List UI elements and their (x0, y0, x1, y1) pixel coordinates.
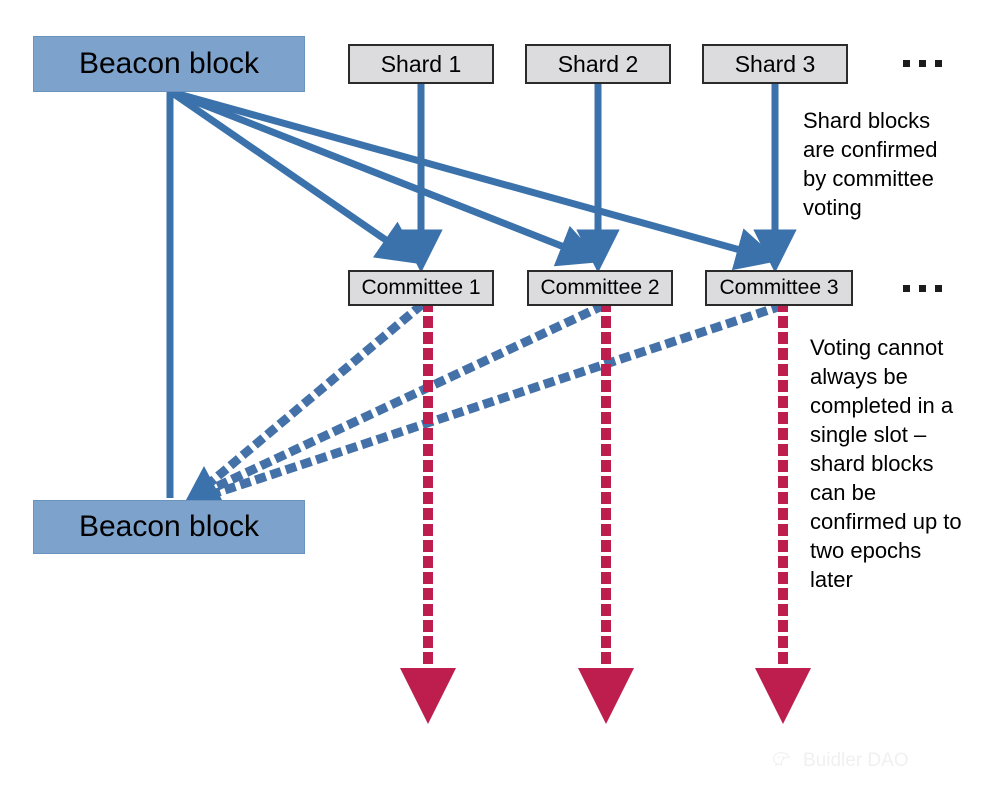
shard-3-node[interactable]: Shard 3 (702, 44, 848, 84)
shard-1-node[interactable]: Shard 1 (348, 44, 494, 84)
committee-1-label: Committee 1 (361, 277, 480, 299)
beacon-bottom-arrowhead (186, 466, 222, 500)
committee-3-node[interactable]: Committee 3 (705, 270, 853, 306)
committee-2-label: Committee 2 (540, 277, 659, 299)
voting-epochs-note: Voting cannot always be completed in a s… (810, 333, 998, 594)
shard-confirm-note: Shard blocks are confirmed by committee … (803, 106, 995, 222)
committee1-to-beacon-dotted (205, 307, 419, 487)
committee3-to-beacon-dotted (207, 307, 778, 496)
shard-2-label: Shard 2 (558, 52, 639, 76)
committees-ellipsis (903, 285, 942, 292)
committee-2-node[interactable]: Committee 2 (527, 270, 673, 306)
shard-3-label: Shard 3 (735, 52, 816, 76)
shards-ellipsis (903, 60, 942, 67)
beacon-to-committee1-arrow (171, 92, 412, 258)
shard-2-node[interactable]: Shard 2 (525, 44, 671, 84)
beacon-block-top[interactable]: Beacon block (33, 36, 305, 92)
ellipsis-dot (935, 60, 942, 67)
ellipsis-dot (903, 60, 910, 67)
beacon-block-bottom[interactable]: Beacon block (33, 500, 305, 554)
shard-1-label: Shard 1 (381, 52, 462, 76)
beacon-to-committee2-arrow (171, 92, 592, 258)
beacon-block-top-label: Beacon block (79, 48, 259, 80)
ellipsis-dot (935, 285, 942, 292)
ellipsis-dot (903, 285, 910, 292)
beacon-to-committee3-arrow (171, 92, 769, 258)
watermark: Buidler DAO (772, 750, 909, 772)
wechat-icon (772, 750, 796, 772)
diagram-canvas: Beacon block Beacon block Shard 1 Shard … (0, 0, 1000, 802)
committee2-to-beacon-dotted (205, 307, 600, 492)
ellipsis-dot (919, 60, 926, 67)
beacon-block-bottom-label: Beacon block (79, 511, 259, 543)
watermark-label: Buidler DAO (803, 750, 909, 772)
committee-1-node[interactable]: Committee 1 (348, 270, 494, 306)
ellipsis-dot (919, 285, 926, 292)
committee-3-label: Committee 3 (719, 277, 838, 299)
